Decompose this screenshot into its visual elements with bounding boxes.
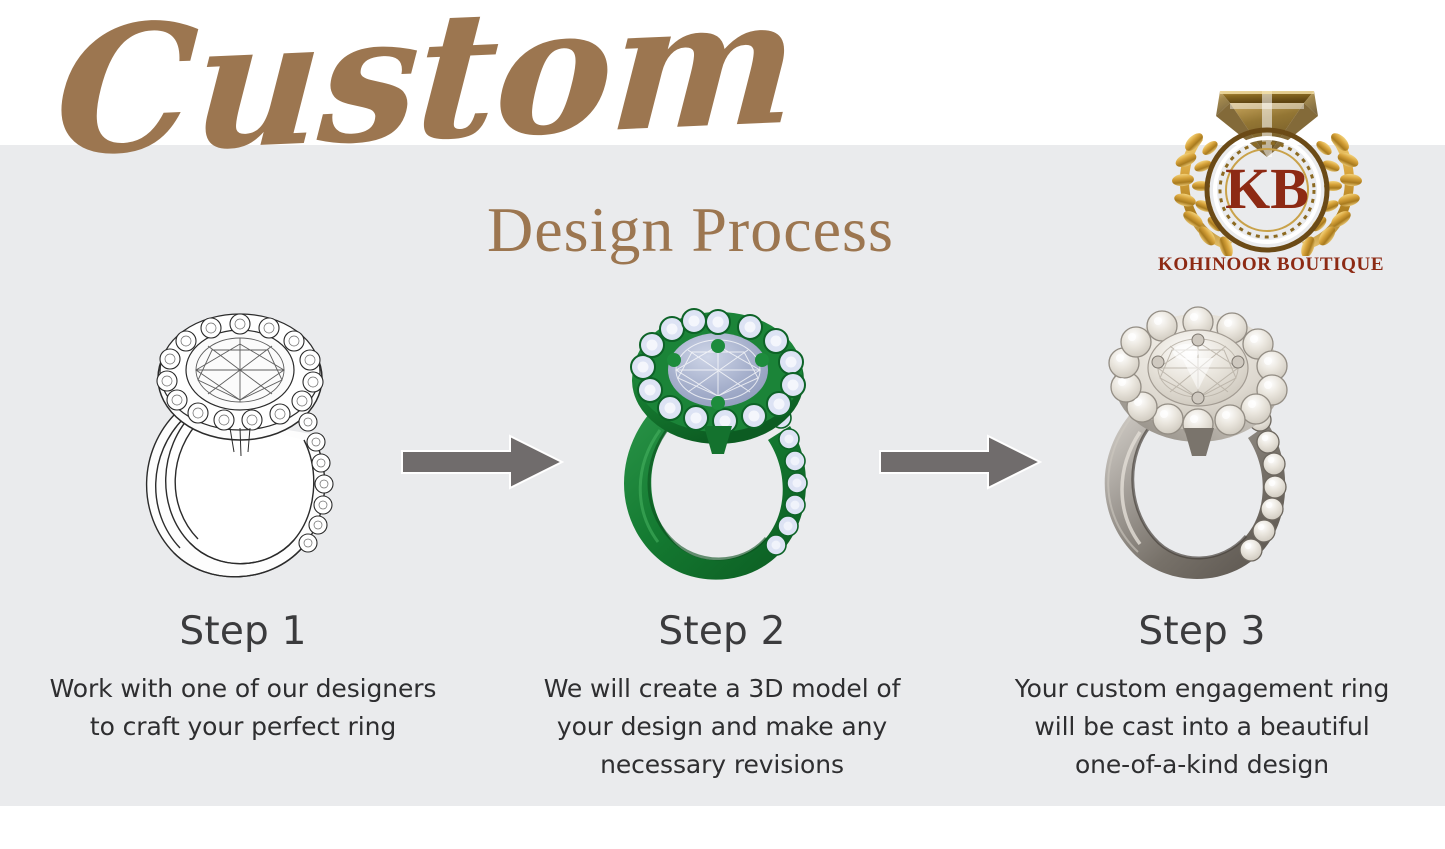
step-3-image [1082, 300, 1342, 590]
custom-design-process-banner: Custom Design Process [0, 0, 1445, 849]
diamond-icon [1216, 91, 1318, 157]
step-3-title: Step 3 [961, 608, 1443, 656]
step-3-description: Your custom engagement ring will be cast… [961, 670, 1443, 784]
step-2-caption: Step 2 We will create a 3D model of your… [481, 608, 963, 784]
step-1-caption: Step 1 Work with one of our designers to… [2, 608, 484, 746]
step-2-description: We will create a 3D model of your design… [481, 670, 963, 784]
arrow-right-icon-1 [398, 433, 566, 491]
step-1-title: Step 1 [2, 608, 484, 656]
process-steps-row [0, 300, 1445, 600]
step-2-title: Step 2 [481, 608, 963, 656]
logo-wordmark: KOHINOOR BOUTIQUE [1158, 254, 1376, 276]
ring-sketch-line-art [122, 300, 382, 590]
logo-mark: KB [1158, 56, 1376, 256]
brand-logo[interactable]: KB KOHINOOR BOUTIQUE [1158, 56, 1376, 284]
step-2-image [600, 300, 860, 590]
step-1-image [122, 300, 382, 590]
step-1-description: Work with one of our designers to craft … [2, 670, 484, 746]
logo-monogram-text: KB [1225, 156, 1309, 221]
background-band-bottom [0, 806, 1445, 849]
page-subtitle: Design Process [487, 198, 894, 262]
arrow-right-icon-2 [876, 433, 1044, 491]
ring-3d-model-green [600, 300, 860, 590]
step-3-caption: Step 3 Your custom engagement ring will … [961, 608, 1443, 784]
ring-finished-photo [1082, 300, 1342, 590]
